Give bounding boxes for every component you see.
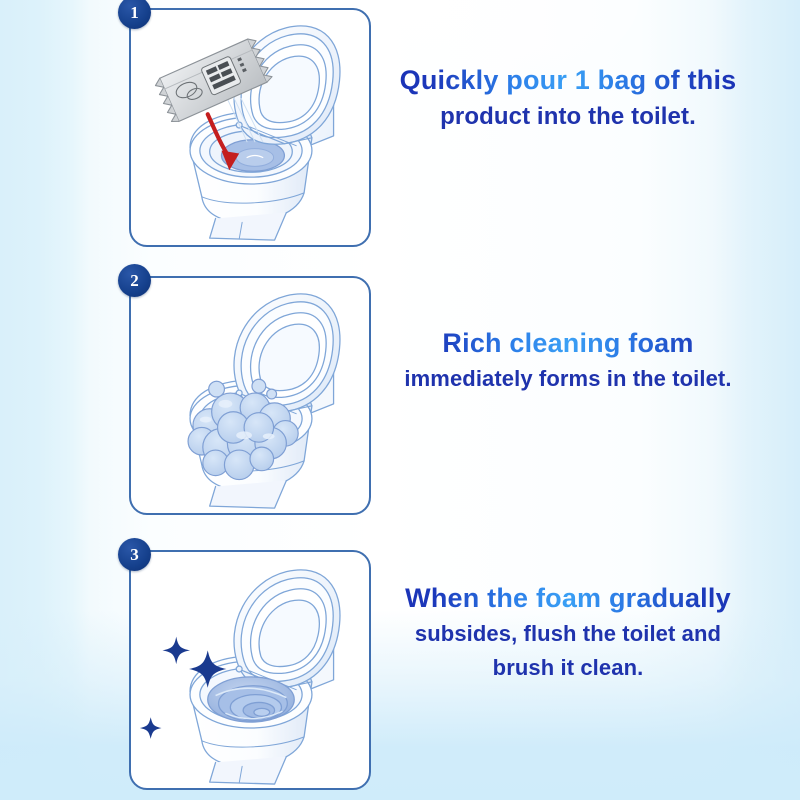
step-3-subline-2: brush it clean. <box>383 651 753 684</box>
infographic-stage: 1 <box>0 0 800 800</box>
step-2-subline: immediately forms in the toilet. <box>383 362 753 395</box>
illustration-step-2 <box>131 278 369 513</box>
illustration-step-3 <box>131 552 369 788</box>
toilet-with-foam-svg <box>131 278 369 513</box>
step-text-1: Quickly pour 1 bag of this product into … <box>383 62 753 136</box>
illustration-step-1 <box>131 10 369 245</box>
water-swirl <box>208 677 295 722</box>
step-badge-3: 3 <box>118 538 151 571</box>
step-2-headline: Rich cleaning foam <box>383 325 753 362</box>
step-badge-2: 2 <box>118 264 151 297</box>
step-1-subline: product into the toilet. <box>383 99 753 135</box>
toilet-clean-sparkling-svg <box>131 552 369 788</box>
step-panel-1: 1 <box>129 8 371 247</box>
step-3-subline: subsides, flush the toilet and <box>383 617 753 650</box>
step-text-3: When the foam gradually subsides, flush … <box>383 580 753 684</box>
step-text-2: Rich cleaning foam immediately forms in … <box>383 325 753 396</box>
step-3-headline: When the foam gradually <box>383 580 753 617</box>
step-panel-2: 2 <box>129 276 371 515</box>
toilet-with-sachet-pouring-svg <box>131 10 369 245</box>
step-panel-3: 3 <box>129 550 371 790</box>
step-1-headline: Quickly pour 1 bag of this <box>383 62 753 99</box>
